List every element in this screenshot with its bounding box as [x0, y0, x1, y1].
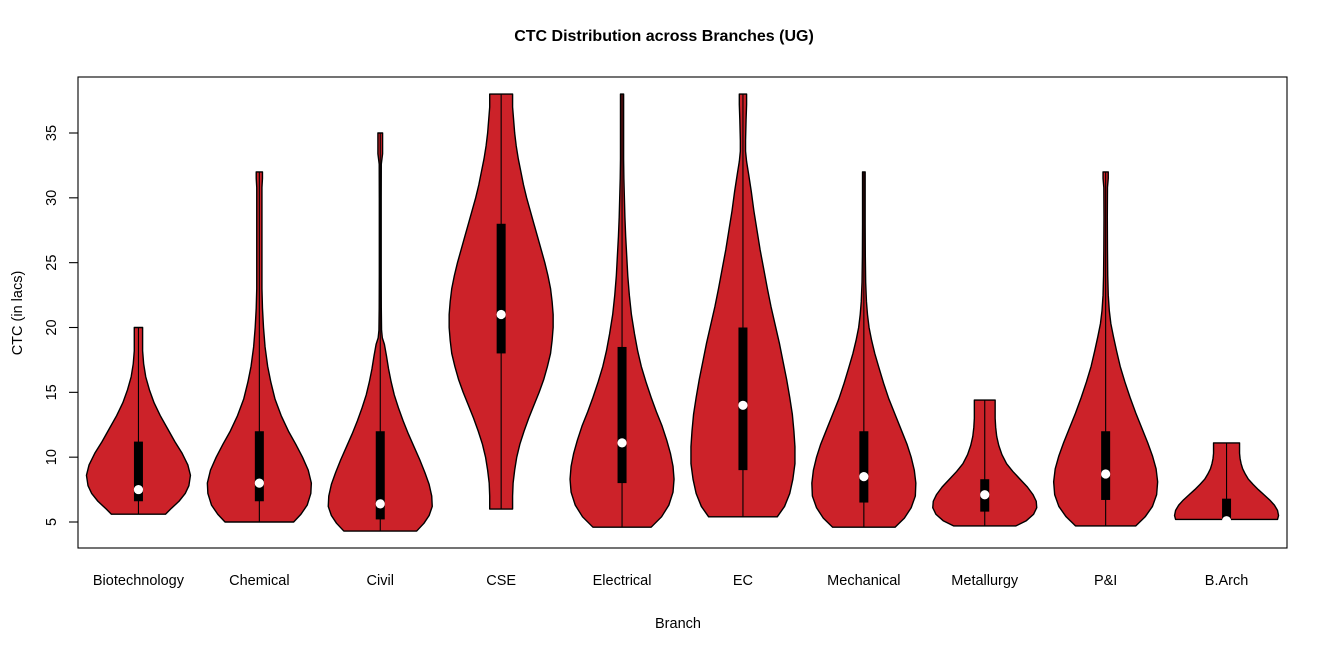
median-marker-p-i [1101, 469, 1110, 478]
plot-canvas: CTC Distribution across Branches (UG) 51… [0, 0, 1327, 653]
y-axis-title: CTC (in lacs) [10, 271, 26, 356]
iqr-box-chemical [255, 431, 264, 501]
y-tick-label: 20 [44, 319, 60, 335]
x-tick-label-biotechnology: Biotechnology [93, 573, 185, 589]
y-tick-label: 5 [44, 518, 60, 526]
page-title: CTC Distribution across Branches (UG) [514, 28, 814, 45]
x-tick-label-metallurgy: Metallurgy [951, 573, 1019, 589]
figure-background [0, 0, 1327, 653]
x-tick-label-ec: EC [733, 573, 753, 589]
iqr-box-mechanical [859, 431, 868, 502]
median-marker-ec [738, 401, 747, 410]
median-marker-b-arch [1222, 516, 1231, 525]
x-tick-label-mechanical: Mechanical [827, 573, 900, 589]
x-tick-label-electrical: Electrical [593, 573, 652, 589]
median-marker-chemical [255, 479, 264, 488]
iqr-box-ec [738, 328, 747, 471]
x-axis-title: Branch [655, 616, 701, 632]
x-tick-label-civil: Civil [367, 573, 394, 589]
median-marker-mechanical [859, 472, 868, 481]
y-tick-label: 15 [44, 384, 60, 400]
median-marker-electrical [617, 438, 626, 447]
x-tick-label-b-arch: B.Arch [1205, 573, 1249, 589]
x-tick-label-p-i: P&I [1094, 573, 1117, 589]
y-tick-label: 25 [44, 255, 60, 271]
x-tick-label-chemical: Chemical [229, 573, 289, 589]
y-tick-label: 10 [44, 449, 60, 465]
iqr-box-electrical [618, 347, 627, 483]
median-marker-metallurgy [980, 490, 989, 499]
iqr-box-cse [497, 224, 506, 354]
x-tick-label-cse: CSE [486, 573, 516, 589]
y-tick-label: 35 [44, 125, 60, 141]
y-tick-label: 30 [44, 190, 60, 206]
median-marker-civil [376, 499, 385, 508]
median-marker-biotechnology [134, 485, 143, 494]
median-marker-cse [497, 310, 506, 319]
violin-plot-figure: CTC Distribution across Branches (UG) 51… [0, 0, 1327, 653]
iqr-box-p-i [1101, 431, 1110, 500]
